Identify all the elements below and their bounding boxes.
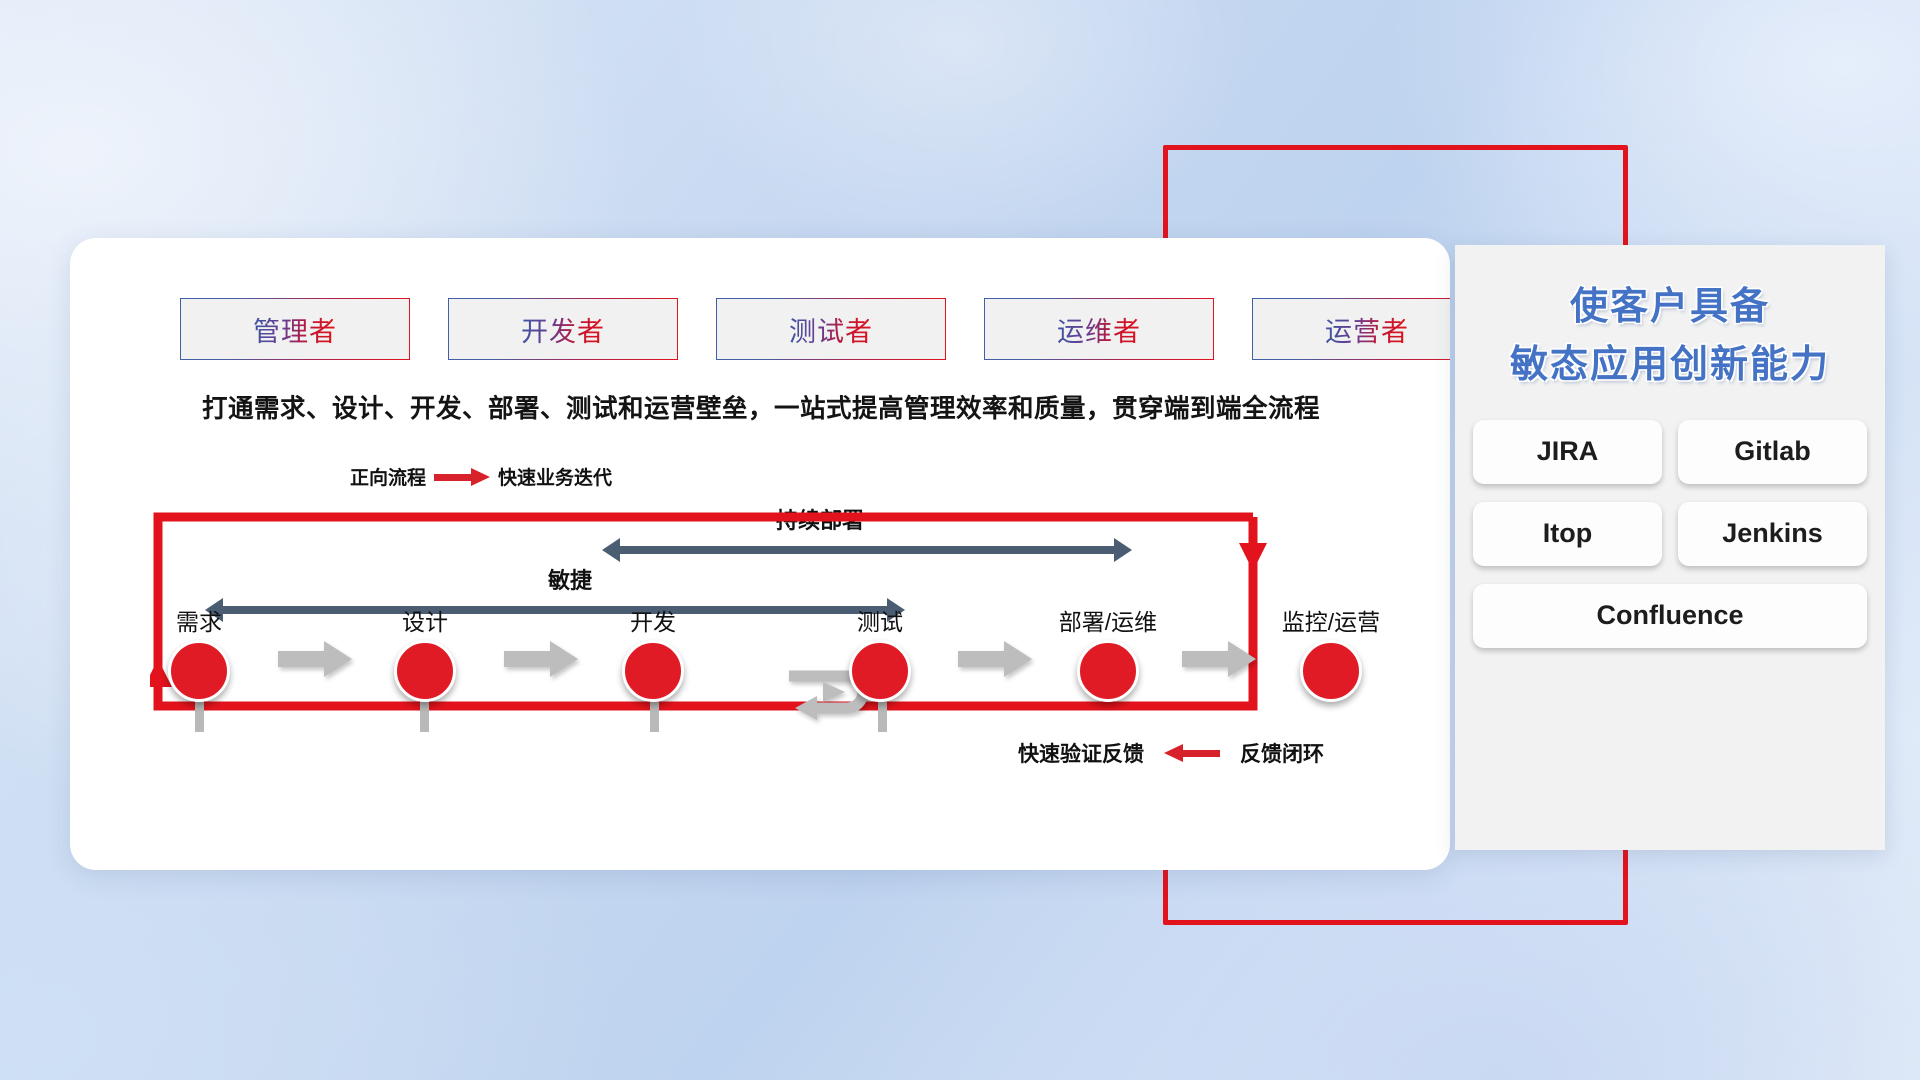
tool-list: JIRA Gitlab Itop Jenkins Confluence — [1473, 420, 1867, 648]
panel-title-line2: 敏态应用创新能力 — [1455, 337, 1885, 395]
feedback-right-label: 反馈闭环 — [1240, 738, 1324, 768]
tool-gitlab[interactable]: Gitlab — [1678, 420, 1867, 484]
tool-confluence[interactable]: Confluence — [1473, 584, 1867, 648]
arrow-right-red-icon — [434, 471, 490, 483]
role-box-row: 管理者 开发者 测试者 运维者 运营者 — [180, 298, 1450, 360]
role-label-operator: 运维者 — [1057, 310, 1141, 349]
red-feedback-loop-icon — [150, 509, 1350, 714]
arrow-left-red-icon — [1164, 747, 1220, 759]
forward-flow-caption: 正向流程 快速业务迭代 — [350, 463, 612, 490]
feedback-left-label: 快速验证反馈 — [1018, 738, 1144, 768]
panel-title: 使客户具备 敏态应用创新能力 — [1455, 245, 1885, 395]
tool-jira[interactable]: JIRA — [1473, 420, 1662, 484]
tool-itop[interactable]: Itop — [1473, 502, 1662, 566]
panel-title-line1: 使客户具备 — [1455, 279, 1885, 337]
role-box-developer[interactable]: 开发者 — [448, 298, 678, 360]
role-label-manager: 管理者 — [253, 310, 337, 349]
role-box-operator[interactable]: 运维者 — [984, 298, 1214, 360]
tool-jenkins[interactable]: Jenkins — [1678, 502, 1867, 566]
role-box-business-operator[interactable]: 运营者 — [1252, 298, 1450, 360]
feedback-caption: 快速验证反馈 反馈闭环 — [1018, 738, 1324, 768]
forward-flow-right-label: 快速业务迭代 — [498, 463, 612, 490]
forward-flow-left-label: 正向流程 — [350, 463, 426, 490]
role-box-manager[interactable]: 管理者 — [180, 298, 410, 360]
value-proposition-panel: 使客户具备 敏态应用创新能力 JIRA Gitlab Itop Jenkins … — [1455, 245, 1885, 850]
role-label-business-operator: 运营者 — [1325, 310, 1409, 349]
devops-main-card: 管理者 开发者 测试者 运维者 运营者 打通需求、设计、开发、部署、测试和运营壁… — [70, 238, 1450, 870]
role-label-tester: 测试者 — [789, 310, 873, 349]
role-label-developer: 开发者 — [521, 310, 605, 349]
role-box-tester[interactable]: 测试者 — [716, 298, 946, 360]
card-description: 打通需求、设计、开发、部署、测试和运营壁垒，一站式提高管理效率和质量，贯穿端到端… — [116, 388, 1406, 425]
